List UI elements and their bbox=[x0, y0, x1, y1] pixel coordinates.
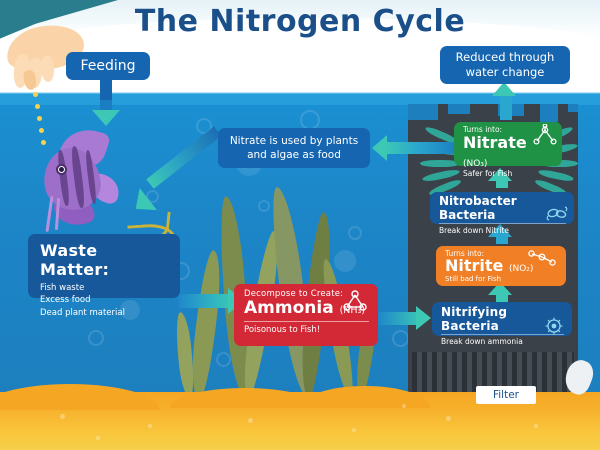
molecule-icon bbox=[342, 289, 368, 313]
filter-label[interactable]: Filter bbox=[476, 386, 536, 404]
sand-speck bbox=[248, 418, 253, 423]
molecule-icon bbox=[528, 248, 558, 268]
nitrate-formula: (NO₃) bbox=[463, 159, 487, 169]
filter-top-notch bbox=[540, 104, 558, 122]
molecule-icon bbox=[532, 124, 558, 148]
waste-matter-heading: Waste Matter: bbox=[40, 241, 170, 279]
nitrate-usage-line1: Nitrate is used by plants bbox=[230, 134, 358, 148]
bacteria-icon bbox=[546, 205, 568, 221]
bubble-icon bbox=[392, 330, 409, 347]
waste-item: Excess food bbox=[40, 294, 170, 306]
ammonia-footer: Poisonous to Fish! bbox=[244, 325, 369, 335]
nitrate-usage-callout[interactable]: Nitrate is used by plants and algae as f… bbox=[218, 128, 370, 168]
infographic-canvas: The Nitrogen Cycle Feeding bbox=[0, 0, 600, 450]
nitrate-callout[interactable]: Turns into: Nitrate (NO₃) Safer for Fish bbox=[454, 122, 562, 166]
nitrite-callout[interactable]: Turns into: Nitrite (NO₂) Still bad for … bbox=[436, 246, 566, 286]
waste-item: Dead plant material bbox=[40, 307, 170, 319]
nitrifying-sub: Break down ammonia bbox=[441, 337, 564, 346]
sand-speck bbox=[96, 436, 100, 440]
waste-matter-callout[interactable]: Waste Matter: Fish waste Excess food Dea… bbox=[28, 234, 180, 298]
nitrate-name: Nitrate bbox=[463, 133, 527, 152]
bacteria-icon bbox=[544, 316, 564, 336]
bubble-icon bbox=[216, 352, 231, 367]
divider bbox=[439, 223, 566, 224]
nitrobacter-bacteria-callout[interactable]: Nitrobacter Bacteria Break down Nitrite bbox=[430, 192, 574, 224]
filter-top-notch bbox=[408, 104, 438, 120]
filter-label-text: Filter bbox=[493, 389, 519, 401]
ammonia-name: Ammonia bbox=[244, 298, 334, 318]
water-change-line2: water change bbox=[456, 65, 555, 80]
food-pellet-icon bbox=[37, 116, 42, 121]
food-pellet-icon bbox=[35, 104, 40, 109]
sand-speck bbox=[352, 428, 356, 432]
waste-item: Fish waste bbox=[40, 282, 170, 294]
filter-top-notch bbox=[448, 104, 470, 114]
bubble-icon bbox=[88, 330, 104, 346]
nitrobacter-sub: Break down Nitrite bbox=[439, 226, 566, 235]
bubble-icon bbox=[334, 250, 356, 272]
ammonia-callout[interactable]: Decompose to Create: Ammonia (NH₃) Poiso… bbox=[234, 284, 378, 346]
sand-speck bbox=[446, 416, 451, 421]
water-change-line1: Reduced through bbox=[456, 50, 555, 65]
food-pellet-icon bbox=[41, 140, 46, 145]
filter-top-notch bbox=[568, 104, 578, 112]
food-pellet-icon bbox=[39, 128, 44, 133]
bubble-icon bbox=[258, 200, 270, 212]
sand-speck bbox=[148, 424, 152, 428]
nitrite-name: Nitrite bbox=[445, 256, 503, 275]
nitrifying-bacteria-callout[interactable]: Nitrifying Bacteria Break down ammonia bbox=[432, 302, 572, 336]
bubble-icon bbox=[348, 226, 362, 240]
water-change-callout[interactable]: Reduced through water change bbox=[440, 46, 570, 84]
nitrate-footer: Safer for Fish bbox=[463, 169, 554, 178]
sand-speck bbox=[60, 414, 65, 419]
fish-pupil bbox=[59, 167, 64, 172]
food-pellet-icon bbox=[33, 92, 38, 97]
feeding-callout[interactable]: Feeding bbox=[66, 52, 150, 80]
bubble-icon bbox=[300, 110, 320, 130]
feeding-label: Feeding bbox=[80, 58, 135, 74]
divider bbox=[244, 321, 369, 322]
nitrite-footer: Still bad for Fish bbox=[445, 275, 558, 283]
sand-speck bbox=[402, 404, 406, 408]
nitrate-usage-line2: and algae as food bbox=[230, 148, 358, 162]
sand-speck bbox=[534, 424, 538, 428]
